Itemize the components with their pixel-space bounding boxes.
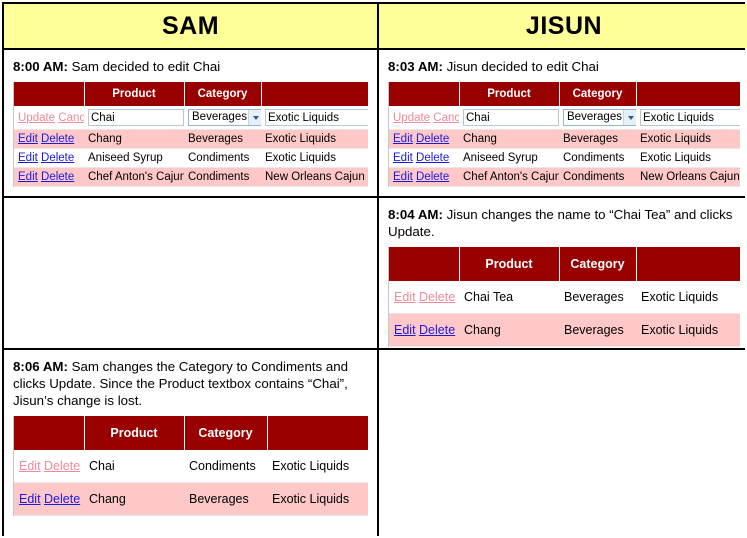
cell-category: Beverages	[559, 314, 636, 347]
delete-link[interactable]: Delete	[416, 152, 449, 164]
grid-edit-row: Update Cancel Beverages	[14, 106, 368, 130]
cell-supplier: Exotic Liquids	[261, 149, 368, 168]
cell-category: Beverages	[184, 483, 267, 516]
cell-product: Chef Anton's Cajun	[84, 168, 184, 187]
table-row: Edit Delete Chai Condiments Exotic Liqui…	[14, 450, 368, 483]
two-column-timeline-grid: SAM JISUN 8:00 AM: Sam decided to edit C…	[2, 2, 745, 536]
product-grid: Product Category Supplier Edit Delete Ch…	[389, 247, 740, 347]
cell-category: Condiments	[184, 450, 267, 483]
caption-body: Sam decided to edit Chai	[68, 59, 220, 74]
cell-supplier: Exotic Liquids	[261, 130, 368, 149]
cell-commands: Edit Delete	[389, 149, 459, 168]
th-product: Product	[84, 82, 184, 106]
edit-link[interactable]: Edit	[394, 323, 416, 337]
grid-header-row: Product Category Supplier	[14, 416, 368, 450]
cell-category: Beverages	[559, 281, 636, 314]
comparison-figure: SAM JISUN 8:00 AM: Sam decided to edit C…	[0, 0, 747, 538]
cell-supplier: Exotic Liquids	[267, 450, 368, 483]
table-row: Edit Delete Chef Anton's Cajun Condiment…	[389, 168, 740, 187]
cell-supplier: New Orleans Cajun Delights	[636, 168, 740, 187]
caption-jisun-803: 8:03 AM: Jisun decided to edit Chai	[388, 58, 740, 75]
th-category: Category	[559, 247, 636, 281]
banner-jisun-label: JISUN	[526, 12, 602, 41]
cell-category: Beverages	[184, 130, 261, 149]
delete-link[interactable]: Delete	[41, 152, 74, 164]
grid-header-row: Product Category Supplier	[389, 82, 740, 106]
panel-jisun-804: 8:04 AM: Jisun changes the name to “Chai…	[379, 198, 747, 348]
supplier-textbox[interactable]	[265, 109, 368, 126]
caption-sam-800: 8:00 AM: Sam decided to edit Chai	[13, 58, 368, 75]
panel-jisun-empty	[379, 350, 747, 538]
th-supplier: Supplier	[267, 416, 368, 450]
caption-sam-806: 8:06 AM: Sam changes the Category to Con…	[13, 358, 368, 409]
edit-link[interactable]: Edit	[18, 171, 38, 183]
update-link[interactable]: Update	[18, 112, 55, 124]
th-supplier: Supplier	[636, 82, 740, 106]
product-grid: Product Category Supplier Update Cancel	[389, 82, 740, 187]
th-command	[14, 416, 84, 450]
table-row: Edit Delete Chef Anton's Cajun Condiment…	[14, 168, 368, 187]
cell-category: Condiments	[559, 149, 636, 168]
table-row: Edit Delete Chang Beverages Exotic Liqui…	[14, 130, 368, 149]
edit-link[interactable]: Edit	[18, 133, 38, 145]
banner-jisun: JISUN	[379, 4, 747, 48]
cell-commands: Edit Delete	[14, 168, 84, 187]
edit-link[interactable]: Edit	[19, 459, 41, 473]
gridview-jisun-803: Product Category Supplier Update Cancel	[388, 82, 740, 187]
delete-link[interactable]: Delete	[44, 459, 80, 473]
edit-link[interactable]: Edit	[18, 152, 38, 164]
delete-link[interactable]: Delete	[416, 171, 449, 183]
delete-link[interactable]: Delete	[419, 323, 455, 337]
delete-link[interactable]: Delete	[419, 290, 455, 304]
supplier-textbox[interactable]	[640, 109, 740, 126]
caption-body: Jisun decided to edit Chai	[443, 59, 599, 74]
cell-supplier: Exotic Liquids	[636, 314, 740, 347]
cell-product: Aniseed Syrup	[84, 149, 184, 168]
th-product: Product	[459, 82, 559, 106]
cell-commands: Edit Delete	[14, 450, 84, 483]
cell-supplier: Exotic Liquids	[636, 149, 740, 168]
chevron-down-icon[interactable]	[623, 110, 636, 125]
panel-jisun-803: 8:03 AM: Jisun decided to edit Chai Prod…	[379, 50, 747, 196]
edit-link[interactable]: Edit	[393, 152, 413, 164]
chevron-down-icon[interactable]	[248, 110, 261, 125]
caption-time: 8:06 AM:	[13, 359, 68, 374]
th-command	[389, 82, 459, 106]
banner-sam: SAM	[4, 4, 377, 48]
th-category: Category	[184, 416, 267, 450]
edit-link[interactable]: Edit	[393, 133, 413, 145]
category-dropdown[interactable]: Beverages	[188, 109, 261, 126]
category-dropdown[interactable]: Beverages	[563, 109, 636, 126]
panel-sam-800: 8:00 AM: Sam decided to edit Chai Produc…	[4, 50, 377, 196]
gridview-jisun-804: Product Category Supplier Edit Delete Ch…	[388, 247, 740, 347]
th-product: Product	[84, 416, 184, 450]
caption-jisun-804: 8:04 AM: Jisun changes the name to “Chai…	[388, 206, 740, 240]
update-link[interactable]: Update	[393, 112, 430, 124]
category-dropdown-value: Beverages	[192, 111, 247, 123]
cell-category-edit: Beverages	[559, 106, 636, 130]
th-supplier: Supplier	[261, 82, 368, 106]
category-dropdown-value: Beverages	[567, 111, 622, 123]
cell-product: Chang	[84, 130, 184, 149]
cell-category: Beverages	[559, 130, 636, 149]
cell-commands: Edit Delete	[14, 130, 84, 149]
gridview-sam-800: Product Category Supplier Update Cancel	[13, 82, 368, 187]
cancel-link[interactable]: Cancel	[433, 112, 459, 124]
panel-sam-806: 8:06 AM: Sam changes the Category to Con…	[4, 350, 377, 538]
panel-sam-empty	[4, 198, 377, 348]
delete-link[interactable]: Delete	[41, 171, 74, 183]
cell-category: Condiments	[184, 168, 261, 187]
cell-commands: Edit Delete	[389, 314, 459, 347]
cancel-link[interactable]: Cancel	[58, 112, 84, 124]
cell-supplier: Exotic Liquids	[636, 281, 740, 314]
product-textbox[interactable]	[463, 109, 559, 126]
cell-product: Chang	[459, 130, 559, 149]
th-command	[389, 247, 459, 281]
cell-commands: Edit Delete	[14, 483, 84, 516]
cell-category-edit: Beverages	[184, 106, 261, 130]
product-grid: Product Category Supplier Edit Delete Ch…	[14, 416, 368, 516]
cell-product-edit	[84, 106, 184, 130]
table-row: Edit Delete Aniseed Syrup Condiments Exo…	[389, 149, 740, 168]
edit-link[interactable]: Edit	[19, 492, 41, 506]
table-row: Edit Delete Chang Beverages Exotic Liqui…	[389, 130, 740, 149]
edit-link[interactable]: Edit	[394, 290, 416, 304]
grid-edit-row: Update Cancel Beverages	[389, 106, 740, 130]
cell-supplier: Exotic Liquids	[267, 483, 368, 516]
th-command	[14, 82, 84, 106]
cell-product: Chai	[84, 450, 184, 483]
grid-header-row: Product Category Supplier	[14, 82, 368, 106]
table-row: Edit Delete Aniseed Syrup Condiments Exo…	[14, 149, 368, 168]
cell-product-edit	[459, 106, 559, 130]
cell-category: Condiments	[559, 168, 636, 187]
caption-time: 8:00 AM:	[13, 59, 68, 74]
th-product: Product	[459, 247, 559, 281]
cell-commands: Update Cancel	[14, 106, 84, 130]
delete-link[interactable]: Delete	[416, 133, 449, 145]
cell-commands: Update Cancel	[389, 106, 459, 130]
table-row: Edit Delete Chai Tea Beverages Exotic Li…	[389, 281, 740, 314]
cell-product: Aniseed Syrup	[459, 149, 559, 168]
delete-link[interactable]: Delete	[41, 133, 74, 145]
cell-supplier-edit	[261, 106, 368, 130]
cell-commands: Edit Delete	[389, 281, 459, 314]
cell-supplier: New Orleans Cajun Delights	[261, 168, 368, 187]
th-category: Category	[559, 82, 636, 106]
cell-product: Chai Tea	[459, 281, 559, 314]
edit-link[interactable]: Edit	[393, 171, 413, 183]
cell-product: Chang	[84, 483, 184, 516]
cell-product: Chang	[459, 314, 559, 347]
banner-sam-label: SAM	[162, 12, 219, 41]
caption-time: 8:04 AM:	[388, 207, 443, 222]
cell-supplier-edit	[636, 106, 740, 130]
product-grid: Product Category Supplier Update Cancel	[14, 82, 368, 187]
table-row: Edit Delete Chang Beverages Exotic Liqui…	[14, 483, 368, 516]
table-row: Edit Delete Chang Beverages Exotic Liqui…	[389, 314, 740, 347]
th-supplier: Supplier	[636, 247, 740, 281]
cell-commands: Edit Delete	[389, 168, 459, 187]
cell-commands: Edit Delete	[389, 130, 459, 149]
cell-supplier: Exotic Liquids	[636, 130, 740, 149]
delete-link[interactable]: Delete	[44, 492, 80, 506]
gridview-sam-806: Product Category Supplier Edit Delete Ch…	[13, 416, 368, 516]
product-textbox[interactable]	[88, 109, 184, 126]
cell-commands: Edit Delete	[14, 149, 84, 168]
cell-category: Condiments	[184, 149, 261, 168]
grid-header-row: Product Category Supplier	[389, 247, 740, 281]
cell-product: Chef Anton's Cajun	[459, 168, 559, 187]
caption-time: 8:03 AM:	[388, 59, 443, 74]
th-category: Category	[184, 82, 261, 106]
